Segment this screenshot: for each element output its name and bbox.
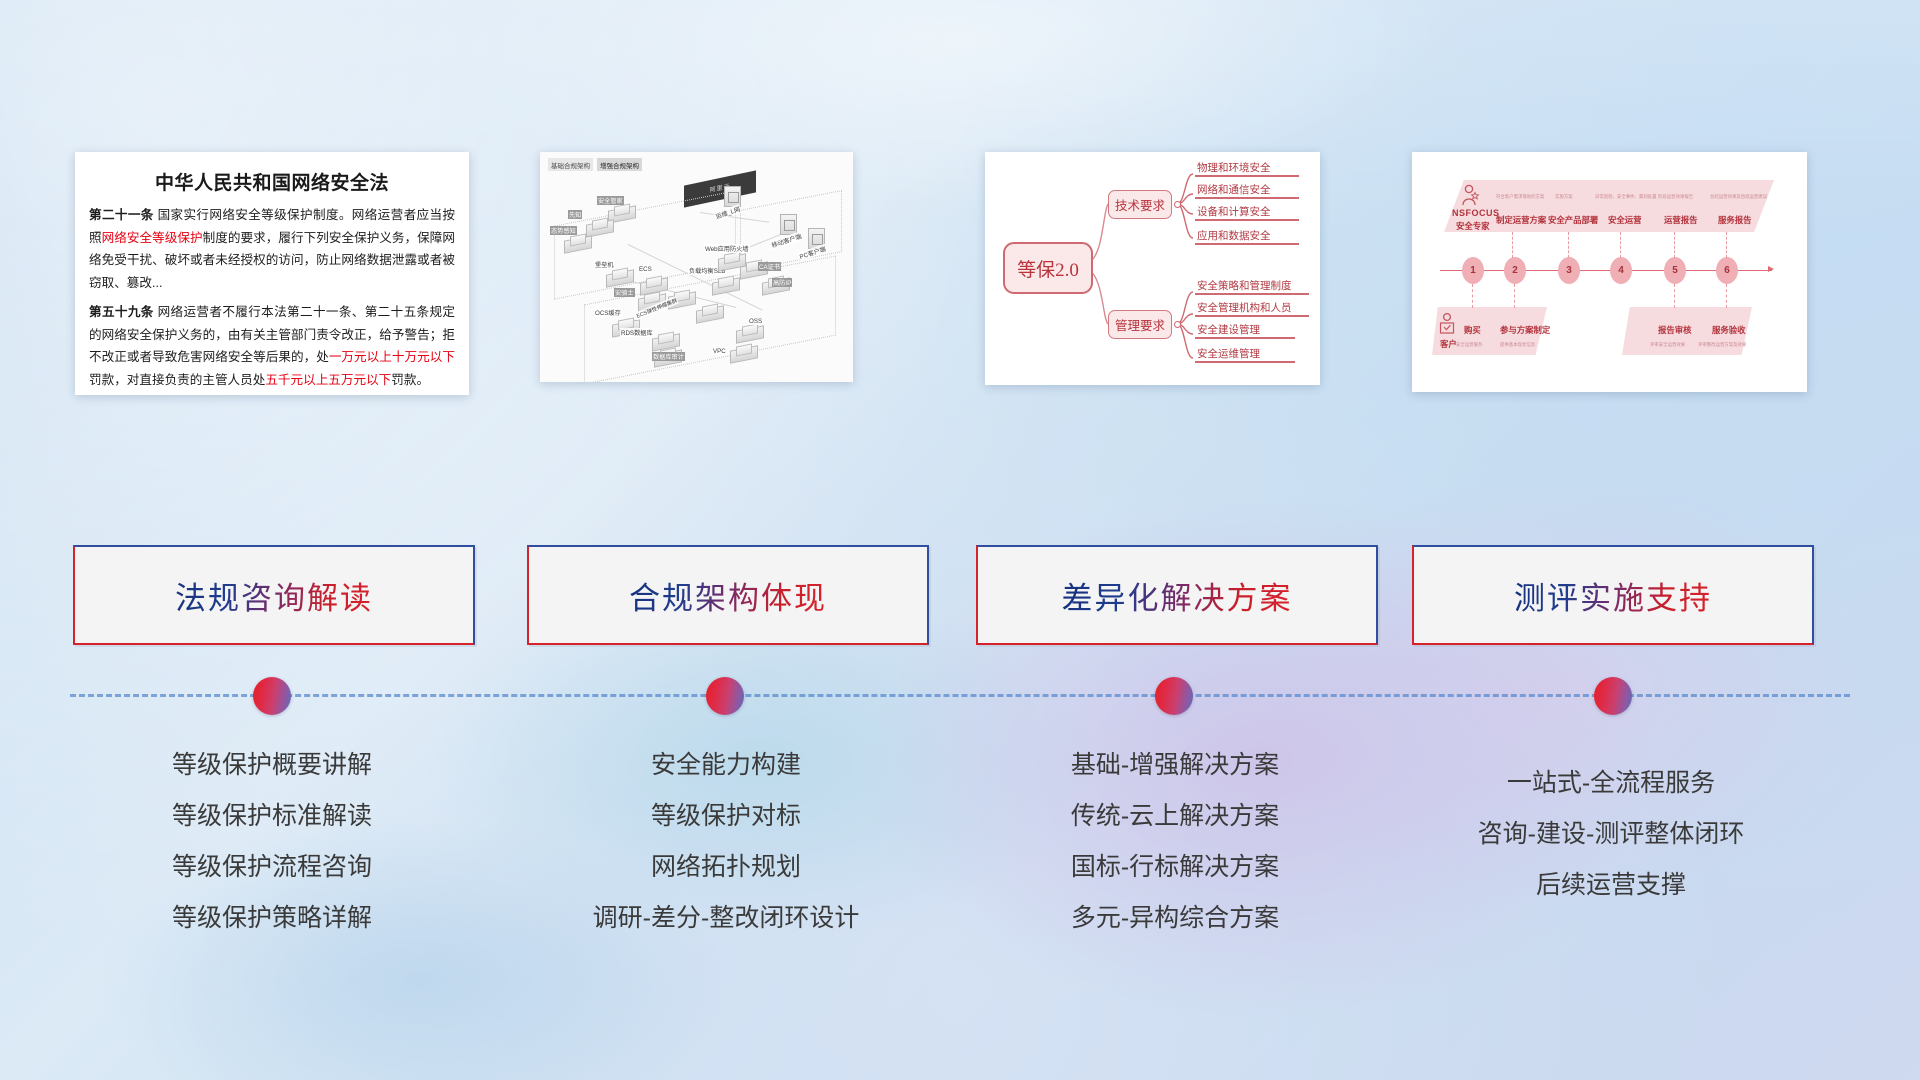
chip-situational-awareness (564, 234, 590, 249)
dash-link-bottom-4 (1726, 284, 1728, 308)
expert-role: 安全专家 (1456, 220, 1490, 232)
top-title-0: 制定运营方案 (1496, 214, 1546, 226)
chip-ecs-scaling-b (696, 304, 722, 319)
chip-slb (712, 276, 738, 291)
bottom-title-2: 报告审核 (1658, 324, 1692, 336)
mindmap-leaf-tech-1: 网络和通信安全 (1197, 182, 1271, 197)
detail-column-3: 基础-增强解决方案 传统-云上解决方案 国标-行标解决方案 多元-异构综合方案 (976, 740, 1374, 944)
mindmap-leaf-mgmt-3: 安全运维管理 (1197, 346, 1260, 361)
dash-link-top-4 (1674, 232, 1676, 258)
heading-row: 法规咨询解读 合规架构体现 差异化解决方案 测评实施支持 (0, 545, 1920, 645)
bottom-sub-2: 评审安全运营效果 (1650, 342, 1685, 348)
timeline-dot-3[interactable] (1155, 677, 1193, 715)
bottom-title-1: 参与方案制定 (1500, 324, 1550, 336)
timeline-step-1[interactable]: 1 (1462, 257, 1484, 284)
mindmap-underline-mgmt-0 (1195, 293, 1309, 295)
law-article-21: 第二十一条 国家实行网络安全等级保护制度。网络运营者应当按照网络安全等级保护制度… (89, 204, 455, 294)
detail-column-1: 等级保护概要讲解 等级保护标准解读 等级保护流程咨询 等级保护策略详解 (73, 740, 471, 944)
mindmap-root-node: 等保2.0 (1003, 242, 1093, 294)
top-sub-0: 符合客户需求落地的方案 (1496, 194, 1544, 200)
detail-column-4: 一站式-全流程服务 咨询-建设-测评整体闭环 后续运营支撑 (1412, 758, 1810, 911)
detail-column-2: 安全能力构建 等级保护对标 网络拓扑规划 调研-差分-整改闭环设计 (527, 740, 925, 944)
customer-role: 客户 (1440, 338, 1457, 350)
list-item: 一站式-全流程服务 (1412, 758, 1810, 809)
mindmap-underline-mgmt-2 (1195, 337, 1295, 339)
architecture-canvas: 基础合规架构 增强合规架构 阿里云 安全管家 先知 (540, 152, 853, 382)
mindmap-leaf-tech-0: 物理和环境安全 (1197, 160, 1271, 175)
mindmap-leaf-tech-2: 设备和计算安全 (1197, 204, 1271, 219)
mindmap-underline-mgmt-3 (1195, 361, 1295, 363)
top-title-4: 服务报告 (1718, 214, 1752, 226)
dash-link-top-1 (1512, 232, 1514, 258)
mindmap-underline-tech-3 (1195, 243, 1299, 245)
article-59-text-2: 罚款，对直接负责的主管人员处 (89, 373, 265, 387)
architecture-tabs: 基础合规架构 增强合规架构 (548, 158, 642, 171)
mindmap-canvas: 等保2.0 技术要求 物理和环境安全 网络和通信安全 设备和计算安全 应用和数据… (985, 152, 1320, 385)
list-item: 安全能力构建 (527, 740, 925, 791)
heading-box-2[interactable]: 合规架构体现 (527, 545, 929, 645)
article-21-label: 第二十一条 (89, 208, 154, 222)
timeline-step-6[interactable]: 6 (1716, 257, 1738, 284)
dash-link-bottom-2 (1514, 284, 1516, 308)
node-label-13: 高防IP (772, 278, 792, 287)
service-timeline-canvas: NSFOCUS 安全专家 客户 1 2 3 4 5 6 (1412, 152, 1807, 392)
security-expert-icon (1460, 184, 1480, 206)
mindmap-leaf-tech-3: 应用和数据安全 (1197, 228, 1271, 243)
timeline-step-4[interactable]: 4 (1610, 257, 1632, 284)
node-label-1: 先知 (568, 210, 582, 219)
service-timeline-card[interactable]: NSFOCUS 安全专家 客户 1 2 3 4 5 6 (1412, 152, 1807, 392)
chip-rds (652, 332, 678, 347)
list-item: 后续运营支撑 (1412, 860, 1810, 911)
top-title-2: 安全运营 (1608, 214, 1642, 226)
chip-security-steward (608, 204, 634, 219)
list-item: 等级保护标准解读 (73, 791, 471, 842)
article-59-highlight-2: 五千元以上五万元以下 (265, 373, 391, 387)
node-label-14: OSS (748, 318, 763, 325)
chip-xianzhi (586, 218, 612, 233)
mindmap-underline-tech-2 (1195, 219, 1299, 221)
heading-label-2: 合规架构体现 (629, 573, 827, 618)
node-label-15: VPC (712, 348, 727, 355)
law-article-59: 第五十九条 网络运营者不履行本法第二十一条、第二十五条规定的网络安全保护义务的，… (89, 301, 455, 391)
bottom-sub-0: 安全运营服务 (1456, 342, 1482, 348)
law-body: 第二十一条 国家实行网络安全等级保护制度。网络运营者应当按照网络安全等级保护制度… (75, 204, 469, 391)
timeline-dashed-line (70, 694, 1850, 701)
mindmap-underline-tech-1 (1195, 197, 1299, 199)
timeline-step-2[interactable]: 2 (1504, 257, 1526, 284)
heading-box-3[interactable]: 差异化解决方案 (976, 545, 1378, 645)
mindmap-card[interactable]: 等保2.0 技术要求 物理和环境安全 网络和通信安全 设备和计算安全 应用和数据… (985, 152, 1320, 385)
illustration-card-row: 中华人民共和国网络安全法 第二十一条 国家实行网络安全等级保护制度。网络运营者应… (0, 152, 1920, 442)
tab-enhanced-architecture[interactable]: 增强合规架构 (597, 158, 642, 171)
timeline-step-5[interactable]: 5 (1664, 257, 1686, 284)
node-label-0: 安全管家 (597, 196, 624, 205)
tab-basic-architecture[interactable]: 基础合规架构 (548, 158, 593, 171)
list-item: 调研-差分-整改闭环设计 (527, 893, 925, 944)
node-label-12: CA证书 (758, 262, 781, 271)
heading-box-1[interactable]: 法规咨询解读 (73, 545, 475, 645)
heading-label-1: 法规咨询解读 (175, 573, 373, 618)
architecture-diagram-card[interactable]: 基础合规架构 增强合规架构 阿里云 安全管家 先知 (540, 152, 853, 382)
list-item: 咨询-建设-测评整体闭环 (1412, 809, 1810, 860)
mindmap-collapse-dot-technical[interactable] (1174, 201, 1181, 208)
list-item: 等级保护对标 (527, 791, 925, 842)
bottom-sub-1: 提供基本现状信息 (1500, 342, 1535, 348)
mindmap-branch-technical: 技术要求 (1108, 190, 1172, 219)
timeline-dot-1[interactable] (253, 677, 291, 715)
list-item: 基础-增强解决方案 (976, 740, 1374, 791)
bottom-sub-3: 评审整改运营方案及效果 (1698, 342, 1746, 348)
bottom-title-3: 服务验收 (1712, 324, 1746, 336)
heading-label-3: 差异化解决方案 (1062, 573, 1293, 618)
top-sub-4: 总结运营效果及后续运营建议 (1710, 194, 1767, 200)
list-item: 等级保护流程咨询 (73, 842, 471, 893)
node-label-11: Web应用防火墙 (704, 244, 750, 253)
node-label-4: 安骑士 (614, 288, 635, 297)
dash-link-top-5 (1726, 232, 1728, 258)
list-item: 传统-云上解决方案 (976, 791, 1374, 842)
top-title-3: 运营报告 (1664, 214, 1698, 226)
mindmap-underline-mgmt-1 (1195, 315, 1309, 317)
dash-link-bottom-3 (1674, 284, 1676, 308)
article-59-text-3: 罚款。 (391, 373, 429, 387)
detail-list-row: 等级保护概要讲解 等级保护标准解读 等级保护流程咨询 等级保护策略详解 安全能力… (0, 740, 1920, 1000)
node-label-3: 堡垒机 (594, 260, 615, 269)
top-sub-3: 阶段运营效果报告 (1658, 194, 1693, 200)
mindmap-leaf-mgmt-0: 安全策略和管理制度 (1197, 278, 1292, 293)
chip-ecs (640, 276, 666, 291)
node-label-7: 数据库审计 (652, 352, 685, 361)
mindmap-collapse-dot-management[interactable] (1174, 321, 1181, 328)
node-label-5: OCS缓存 (594, 308, 622, 317)
top-sub-2: 日常巡检、安全事件、漏洞处置 (1595, 194, 1656, 200)
top-title-1: 安全产品部署 (1548, 214, 1598, 226)
law-title: 中华人民共和国网络安全法 (75, 168, 469, 195)
dash-link-bottom-1 (1472, 284, 1474, 308)
bottom-title-0: 购买 (1464, 324, 1481, 336)
chip-bastion-host (606, 268, 632, 283)
list-item: 网络拓扑规划 (527, 842, 925, 893)
expert-brand: NSFOCUS (1452, 208, 1500, 218)
list-item: 国标-行标解决方案 (976, 842, 1374, 893)
timeline-step-3[interactable]: 3 (1558, 257, 1580, 284)
heading-box-4[interactable]: 测评实施支持 (1412, 545, 1814, 645)
article-59-label: 第五十九条 (89, 305, 154, 319)
server-icon-mobile (780, 214, 797, 235)
dash-link-top-3 (1620, 232, 1622, 258)
list-item: 多元-异构综合方案 (976, 893, 1374, 944)
customer-icon (1438, 312, 1456, 336)
article-59-highlight-1: 一万元以上十万元以下 (329, 350, 455, 364)
article-21-highlight: 网络安全等级保护 (102, 231, 203, 245)
mindmap-branch-management: 管理要求 (1108, 310, 1172, 339)
node-label-8: ECS (638, 266, 653, 273)
timeline-dot-2[interactable] (706, 677, 744, 715)
node-label-6: RDS数据库 (620, 328, 654, 337)
list-item: 等级保护策略详解 (73, 893, 471, 944)
timeline-arrow-icon (1768, 266, 1774, 272)
timeline-dot-4[interactable] (1594, 677, 1632, 715)
heading-label-4: 测评实施支持 (1514, 573, 1712, 618)
law-text-card[interactable]: 中华人民共和国网络安全法 第二十一条 国家实行网络安全等级保护制度。网络运营者应… (75, 152, 469, 395)
chip-vpc (730, 344, 756, 359)
mindmap-leaf-mgmt-2: 安全建设管理 (1197, 322, 1260, 337)
node-label-2: 态势感知 (550, 226, 577, 235)
list-item: 等级保护概要讲解 (73, 740, 471, 791)
dash-link-top-2 (1568, 232, 1570, 258)
top-sub-1: 实施方案 (1555, 194, 1573, 200)
mindmap-leaf-mgmt-1: 安全管理机构和人员 (1197, 300, 1292, 315)
chip-oss (736, 324, 762, 339)
mindmap-underline-tech-0 (1195, 175, 1299, 177)
